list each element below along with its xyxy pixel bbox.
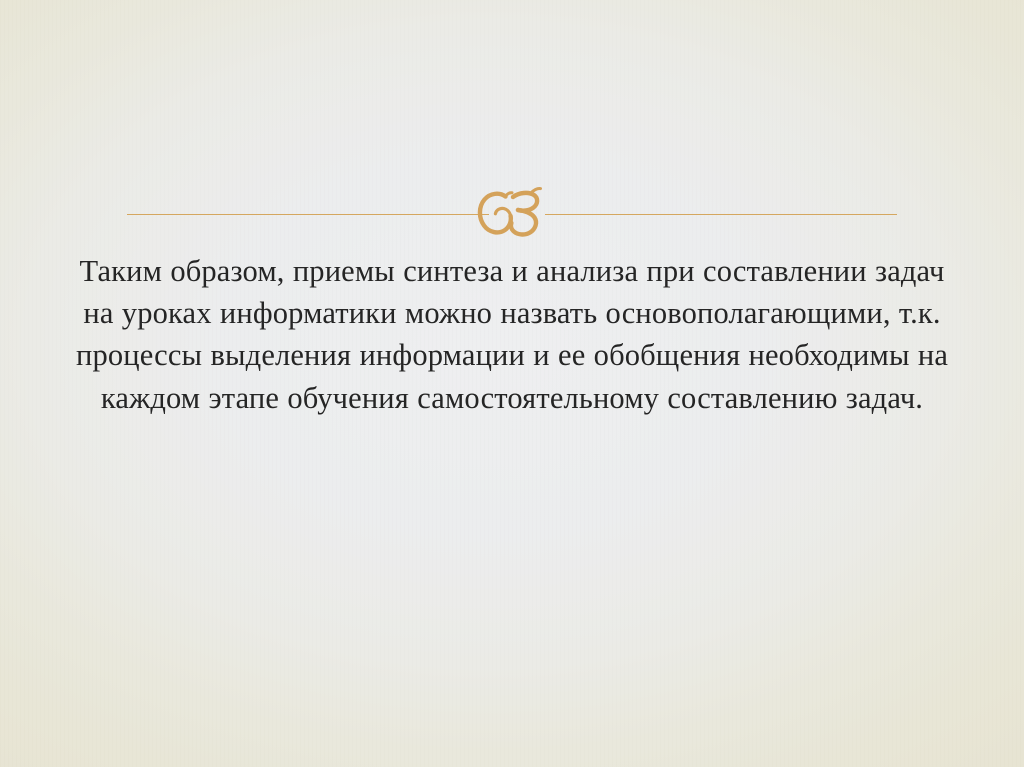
slide-body-paragraph: Таким образом, приемы синтеза и анализа …	[72, 250, 952, 419]
cb-flourish-ornament-icon	[475, 186, 547, 242]
divider-rule-left	[127, 214, 489, 215]
divider-rule-right	[545, 214, 897, 215]
decorative-divider	[127, 190, 897, 240]
presentation-slide: Таким образом, приемы синтеза и анализа …	[0, 0, 1024, 767]
